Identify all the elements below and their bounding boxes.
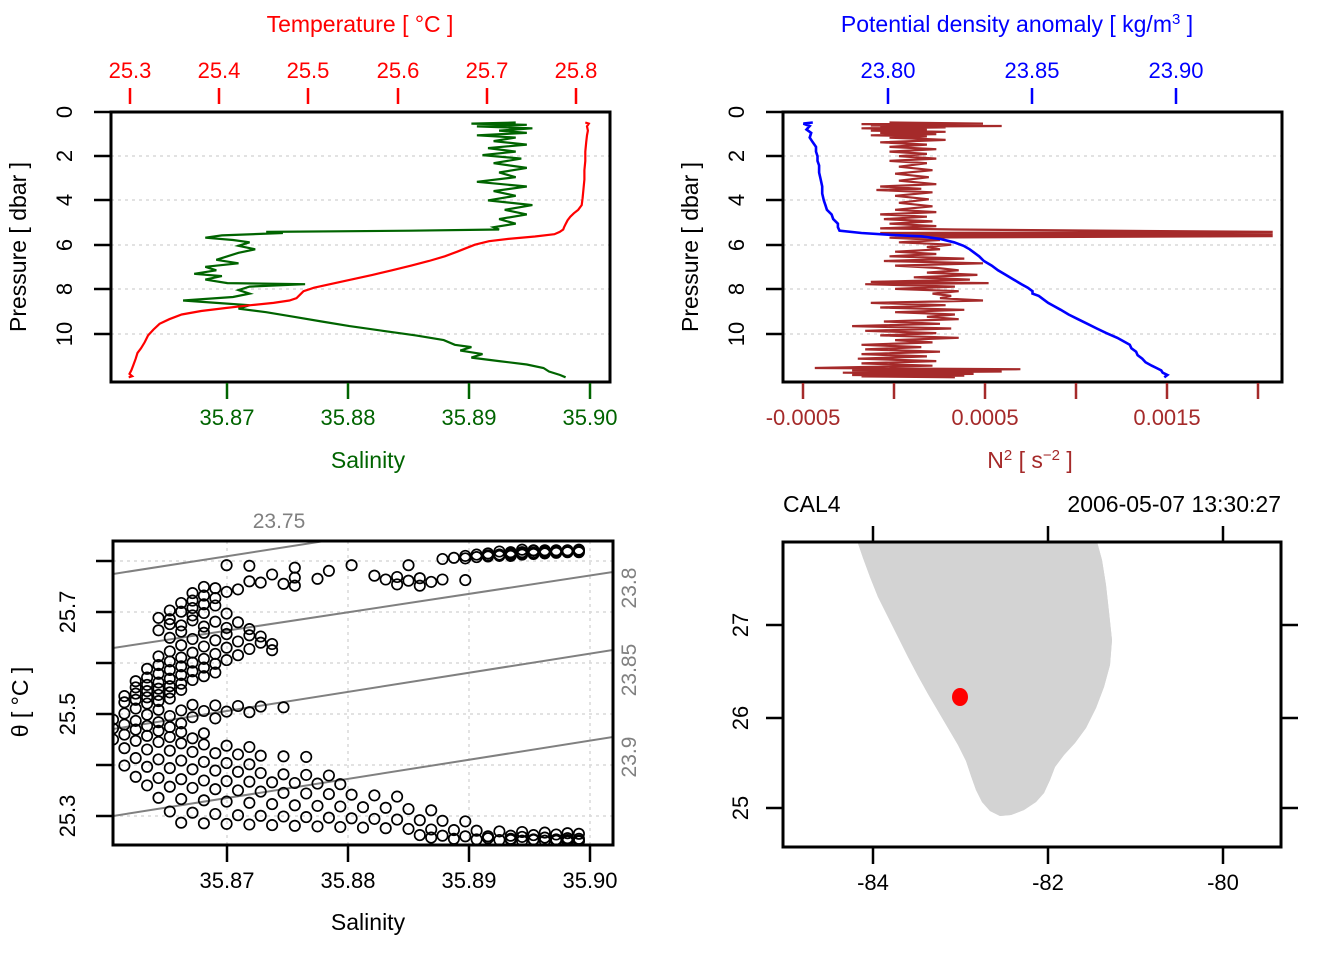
- map-right-ticks: [1281, 625, 1298, 808]
- longitude-tick-labels: -84 -82 -80: [857, 870, 1239, 895]
- salinity-axis-title: Salinity: [331, 909, 406, 935]
- theta-s-point: [119, 719, 129, 729]
- theta-s-point: [278, 579, 288, 589]
- density-tick-label: 23.80: [860, 58, 915, 83]
- theta-s-point: [290, 821, 300, 831]
- isopycnal-line: [113, 496, 613, 574]
- theta-s-point: [176, 755, 186, 765]
- theta-axis-title: θ [ °C ]: [7, 667, 33, 738]
- pressure-tick-label: 0: [52, 106, 77, 118]
- ts-diagram-svg: 23.75 θ [ °C ] 25.7 25.5 25.3: [0, 480, 672, 960]
- density-line: [803, 123, 1167, 378]
- theta-s-point: [153, 773, 163, 783]
- theta-tick-labels: 25.7 25.5 25.3: [55, 591, 80, 838]
- theta-s-point: [290, 800, 300, 810]
- map-svg: CAL4 2006-05-07 13:30:27 27 26 25: [672, 480, 1344, 960]
- pressure-tick-label: 8: [52, 283, 77, 295]
- theta-s-point: [244, 561, 254, 571]
- latitude-tick-label: 27: [728, 613, 753, 637]
- salinity-tick-label: 35.89: [441, 405, 496, 430]
- theta-s-point: [176, 818, 186, 828]
- theta-s-point: [256, 577, 266, 587]
- density-axis-title: Potential density anomaly [ kg/m3 ]: [841, 11, 1193, 37]
- theta-s-point: [244, 707, 254, 717]
- theta-s-point: [301, 812, 311, 822]
- theta-s-point: [324, 789, 334, 799]
- station-marker-icon: [952, 688, 968, 706]
- theta-s-point: [176, 794, 186, 804]
- theta-axis-ticks: [96, 561, 113, 816]
- density-tick-label: 23.90: [1148, 58, 1203, 83]
- salinity-tick-label: 35.90: [562, 868, 617, 893]
- theta-s-point: [312, 821, 322, 831]
- theta-s-point: [403, 804, 413, 814]
- n2-axis-ticks: [803, 383, 1258, 399]
- theta-s-point: [131, 772, 141, 782]
- theta-s-point: [346, 813, 356, 823]
- profile-ts-svg: Temperature [ °C ] 25.3 25.4 25.5 25.6 2…: [0, 0, 672, 480]
- latitude-axis-ticks: [766, 625, 783, 808]
- theta-s-point: [210, 600, 220, 610]
- salinity-tick-label: 35.87: [199, 405, 254, 430]
- pressure-tick-label: 4: [724, 194, 749, 206]
- panel-density-n2-profile: Potential density anomaly [ kg/m3 ] 23.8…: [672, 0, 1344, 480]
- theta-s-point: [233, 617, 243, 627]
- profile-n2-svg: Potential density anomaly [ kg/m3 ] 23.8…: [672, 0, 1344, 480]
- land-mass: [854, 530, 1112, 816]
- theta-s-point: [244, 742, 254, 752]
- profile-ts-series: [129, 123, 589, 378]
- salinity-axis-title: Salinity: [331, 447, 406, 473]
- isopycnal-right-labels: 23.8 23.85 23.9: [618, 568, 641, 778]
- salinity-tick-label: 35.88: [320, 868, 375, 893]
- theta-s-point: [165, 746, 175, 756]
- profile-n2-series: [803, 123, 1272, 378]
- theta-s-point: [403, 824, 413, 834]
- theta-s-point: [119, 729, 129, 739]
- theta-s-point: [210, 583, 220, 593]
- n2-tick-label: 0.0005: [951, 405, 1018, 430]
- theta-s-point: [437, 831, 447, 841]
- theta-s-point: [244, 630, 254, 640]
- theta-s-point: [210, 809, 220, 819]
- grid-lines: [783, 112, 1282, 334]
- theta-s-point: [176, 705, 186, 715]
- theta-tick-label: 25.5: [55, 693, 80, 736]
- n2-axis-title: N2 [ s−2 ]: [987, 447, 1073, 473]
- theta-s-point: [142, 698, 152, 708]
- longitude-axis-ticks: [873, 848, 1223, 864]
- theta-s-point: [210, 649, 220, 659]
- theta-s-point: [415, 830, 425, 840]
- density-tick-label: 23.85: [1004, 58, 1059, 83]
- theta-s-point: [301, 752, 311, 762]
- theta-s-point: [210, 617, 220, 627]
- theta-s-point: [119, 697, 129, 707]
- theta-s-point: [131, 736, 141, 746]
- theta-s-point: [119, 743, 129, 753]
- isopycnal-label: 23.9: [618, 737, 641, 778]
- theta-s-point: [426, 805, 436, 815]
- theta-s-point: [165, 633, 175, 643]
- theta-s-point: [381, 574, 391, 584]
- pressure-tick-label: 0: [724, 106, 749, 118]
- theta-s-point: [199, 728, 209, 738]
- pressure-axis-ticks: [94, 112, 111, 334]
- theta-s-point: [142, 744, 152, 754]
- theta-s-point: [426, 577, 436, 587]
- temperature-tick-label: 25.3: [109, 58, 152, 83]
- theta-s-point: [187, 648, 197, 658]
- temperature-axis-title: Temperature [ °C ]: [267, 11, 454, 37]
- theta-s-point: [437, 554, 447, 564]
- salinity-tick-labels: 35.87 35.88 35.89 35.90: [199, 868, 617, 893]
- theta-s-point: [176, 685, 186, 695]
- theta-s-point: [176, 774, 186, 784]
- salinity-tick-label: 35.88: [320, 405, 375, 430]
- longitude-tick-label: -82: [1032, 870, 1064, 895]
- theta-s-point: [210, 700, 220, 710]
- theta-s-point: [210, 713, 220, 723]
- pressure-tick-label: 8: [724, 283, 749, 295]
- theta-s-point: [233, 810, 243, 820]
- theta-s-point: [392, 814, 402, 824]
- temperature-line: [129, 123, 589, 378]
- theta-s-point: [324, 566, 334, 576]
- theta-s-point: [415, 815, 425, 825]
- theta-s-point: [233, 785, 243, 795]
- pressure-tick-label: 2: [52, 150, 77, 162]
- theta-s-point: [165, 646, 175, 656]
- temperature-tick-labels: 25.3 25.4 25.5 25.6 25.7 25.8: [109, 58, 598, 83]
- latitude-tick-label: 25: [728, 796, 753, 820]
- n2-tick-label: -0.0005: [766, 405, 841, 430]
- theta-s-point: [187, 733, 197, 743]
- theta-s-point: [256, 638, 266, 648]
- theta-s-point: [267, 799, 277, 809]
- theta-s-point: [278, 751, 288, 761]
- theta-s-point: [233, 584, 243, 594]
- theta-s-point: [392, 579, 402, 589]
- theta-s-point: [165, 782, 175, 792]
- theta-s-point: [267, 569, 277, 579]
- grid-lines: [113, 541, 613, 845]
- temperature-tick-label: 25.8: [555, 58, 598, 83]
- theta-s-point: [187, 700, 197, 710]
- theta-s-point: [392, 791, 402, 801]
- latitude-tick-labels: 27 26 25: [728, 613, 753, 820]
- isopycnal-top-label: 23.75: [253, 510, 306, 533]
- theta-s-point: [153, 613, 163, 623]
- theta-s-point: [324, 770, 334, 780]
- n2-tick-label: 0.0015: [1133, 405, 1200, 430]
- salinity-line: [183, 123, 565, 378]
- theta-s-point: [369, 790, 379, 800]
- plot-frame: [111, 112, 610, 382]
- salinity-tick-label: 35.90: [562, 405, 617, 430]
- panel-station-map: CAL4 2006-05-07 13:30:27 27 26 25: [672, 480, 1344, 960]
- theta-s-point: [142, 780, 152, 790]
- theta-s-point: [381, 803, 391, 813]
- theta-s-point: [176, 640, 186, 650]
- theta-s-point: [131, 753, 141, 763]
- theta-s-point: [437, 816, 447, 826]
- pressure-axis-ticks: [766, 112, 783, 334]
- theta-s-point: [153, 625, 163, 635]
- pressure-tick-label: 6: [724, 239, 749, 251]
- temperature-tick-label: 25.5: [287, 58, 330, 83]
- theta-s-point: [153, 793, 163, 803]
- theta-s-point: [199, 641, 209, 651]
- theta-s-point: [312, 574, 322, 584]
- isopycnal-label: 23.8: [618, 568, 641, 609]
- theta-s-point: [244, 798, 254, 808]
- theta-s-point: [199, 739, 209, 749]
- station-name-label: CAL4: [783, 491, 841, 517]
- n2-line: [815, 123, 1273, 378]
- theta-s-point: [142, 731, 152, 741]
- pressure-tick-label: 4: [52, 194, 77, 206]
- theta-s-point: [153, 754, 163, 764]
- theta-s-point: [290, 563, 300, 573]
- salinity-tick-label: 35.87: [199, 868, 254, 893]
- theta-s-point: [267, 645, 277, 655]
- theta-s-point: [176, 738, 186, 748]
- pressure-axis-title: Pressure [ dbar ]: [5, 162, 31, 332]
- theta-s-point: [233, 749, 243, 759]
- theta-s-point: [256, 751, 266, 761]
- theta-s-point: [267, 777, 277, 787]
- panel-temperature-salinity-profile: Temperature [ °C ] 25.3 25.4 25.5 25.6 2…: [0, 0, 672, 480]
- salinity-axis-ticks: [227, 383, 590, 399]
- theta-s-point: [244, 819, 254, 829]
- theta-s-point: [358, 802, 368, 812]
- temperature-tick-label: 25.6: [377, 58, 420, 83]
- theta-s-point: [324, 813, 334, 823]
- pressure-tick-label: 10: [724, 322, 749, 346]
- theta-s-point: [210, 765, 220, 775]
- theta-s-point: [165, 732, 175, 742]
- theta-s-point: [165, 722, 175, 732]
- pressure-axis-title: Pressure [ dbar ]: [677, 162, 703, 332]
- theta-s-point: [187, 783, 197, 793]
- theta-s-point: [358, 822, 368, 832]
- theta-s-point: [199, 757, 209, 767]
- theta-s-point: [244, 777, 254, 787]
- theta-s-point: [176, 626, 186, 636]
- n2-tick-labels: -0.0005 0.0005 0.0015: [766, 405, 1201, 430]
- density-axis-ticks: [888, 88, 1176, 104]
- theta-s-point: [403, 576, 413, 586]
- temperature-tick-label: 25.4: [198, 58, 241, 83]
- map-top-ticks: [873, 526, 1223, 542]
- salinity-tick-labels: 35.87 35.88 35.89 35.90: [199, 405, 617, 430]
- theta-s-point: [415, 581, 425, 591]
- theta-s-point: [210, 784, 220, 794]
- salinity-tick-label: 35.89: [441, 868, 496, 893]
- theta-s-point: [369, 571, 379, 581]
- pressure-tick-labels: 0 2 4 6 8 10: [52, 106, 77, 346]
- theta-s-point: [278, 769, 288, 779]
- pressure-tick-labels: 0 2 4 6 8 10: [724, 106, 749, 346]
- theta-s-point: [335, 801, 345, 811]
- theta-s-point: [142, 762, 152, 772]
- theta-s-point: [460, 575, 470, 585]
- temperature-tick-label: 25.7: [466, 58, 509, 83]
- longitude-tick-label: -80: [1207, 870, 1239, 895]
- theta-s-point: [142, 721, 152, 731]
- theta-s-point: [244, 644, 254, 654]
- temperature-axis-ticks: [130, 88, 576, 104]
- panel-theta-s-diagram: 23.75 θ [ °C ] 25.7 25.5 25.3: [0, 480, 672, 960]
- theta-s-point: [153, 737, 163, 747]
- theta-s-point: [301, 788, 311, 798]
- plot-frame: [113, 541, 613, 845]
- theta-s-point: [187, 747, 197, 757]
- theta-s-point: [267, 820, 277, 830]
- density-tick-labels: 23.80 23.85 23.90: [860, 58, 1203, 83]
- theta-s-point: [381, 823, 391, 833]
- theta-s-point: [165, 693, 175, 703]
- theta-s-point: [199, 775, 209, 785]
- theta-s-point: [233, 767, 243, 777]
- theta-s-scatter: [108, 545, 584, 847]
- pressure-tick-label: 10: [52, 322, 77, 346]
- longitude-tick-label: -84: [857, 870, 889, 895]
- station-timestamp-label: 2006-05-07 13:30:27: [1067, 491, 1281, 517]
- theta-s-point: [233, 650, 243, 660]
- theta-tick-label: 25.3: [55, 795, 80, 838]
- theta-s-point: [312, 801, 322, 811]
- salinity-axis-ticks: [227, 846, 590, 862]
- theta-s-point: [278, 702, 288, 712]
- theta-s-point: [335, 822, 345, 832]
- theta-s-point: [210, 635, 220, 645]
- theta-s-point: [301, 770, 311, 780]
- theta-s-point: [256, 768, 266, 778]
- plot-frame: [783, 112, 1282, 382]
- theta-s-point: [210, 748, 220, 758]
- theta-s-point: [449, 553, 459, 563]
- pressure-tick-label: 2: [724, 150, 749, 162]
- theta-s-point: [244, 576, 254, 586]
- isopycnal-label: 23.85: [618, 644, 641, 697]
- latitude-tick-label: 26: [728, 706, 753, 730]
- theta-s-point: [233, 636, 243, 646]
- theta-s-point: [437, 574, 447, 584]
- theta-s-point: [199, 818, 209, 828]
- pressure-tick-label: 6: [52, 239, 77, 251]
- theta-tick-label: 25.7: [55, 591, 80, 634]
